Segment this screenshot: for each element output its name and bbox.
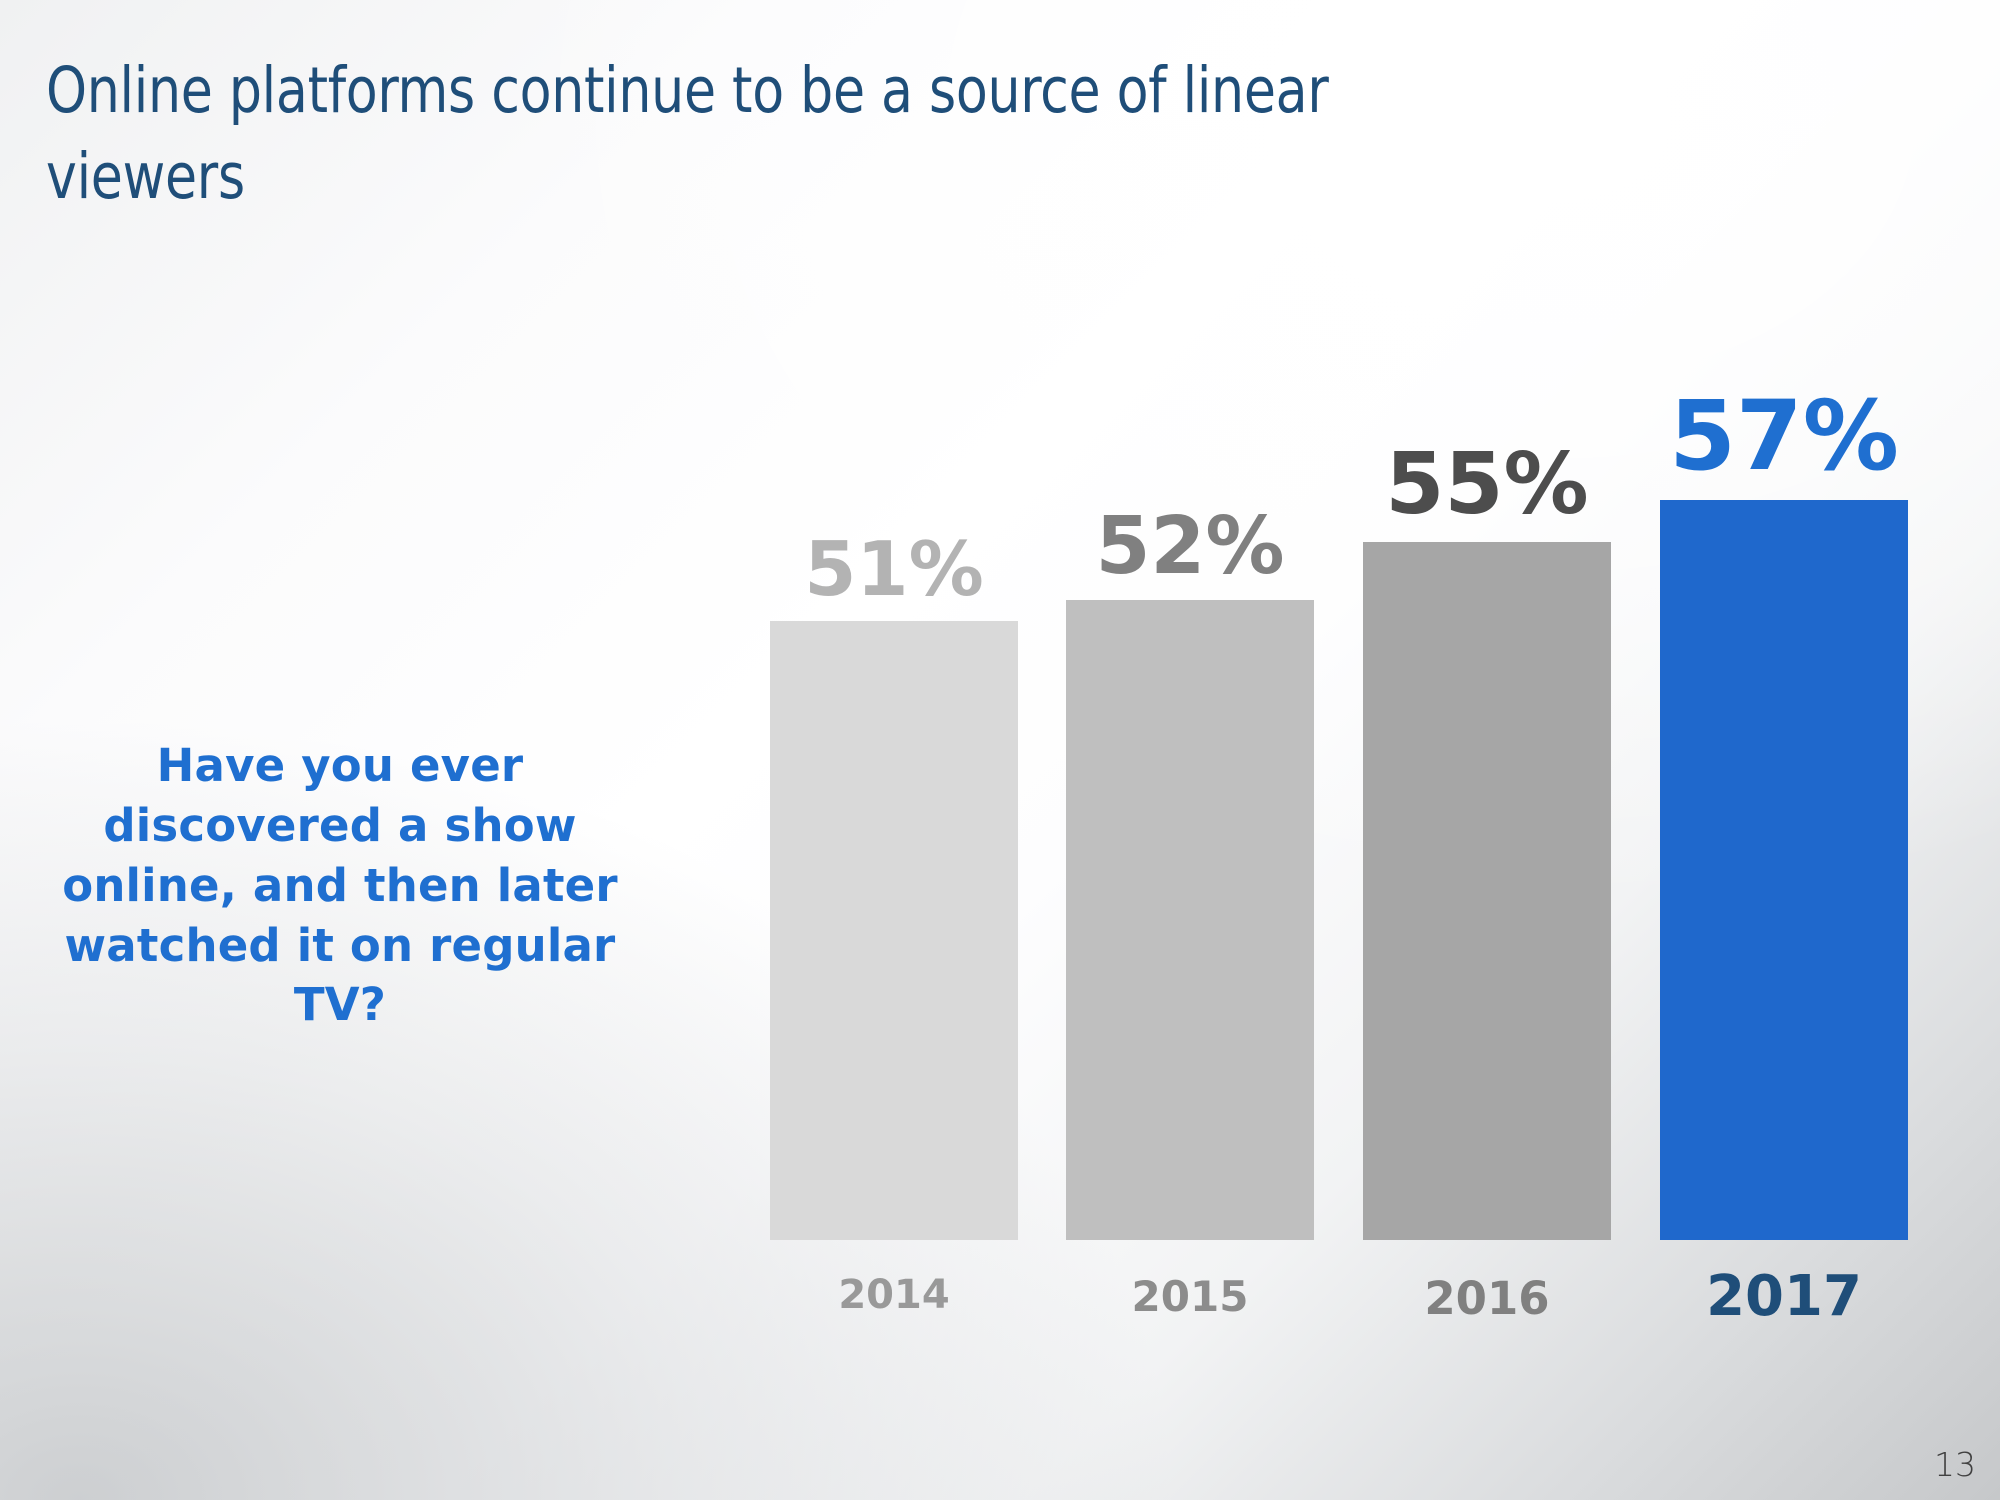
bar-value-label: 51% <box>804 525 984 613</box>
bar-rect[interactable] <box>1066 600 1314 1240</box>
bar-rect[interactable] <box>770 621 1018 1240</box>
bar-rect[interactable] <box>1363 542 1611 1240</box>
bar-value-label: 52% <box>1095 500 1284 592</box>
bar-group: 57%2017 <box>1660 500 1908 1240</box>
bar-category-label-2014: 2014 <box>838 1272 949 1318</box>
bar-category-label-2016: 2016 <box>1424 1272 1549 1325</box>
bar-value-label: 57% <box>1669 380 1899 492</box>
bar-value-label: 55% <box>1385 435 1588 534</box>
bar-group: 52%2015 <box>1066 600 1314 1240</box>
slide-canvas: Online platforms continue to be a source… <box>0 0 2000 1500</box>
page-number: 13 <box>1934 1445 1976 1484</box>
bar-group: 51%2014 <box>770 621 1018 1240</box>
bar-rect[interactable] <box>1660 500 1908 1240</box>
bar-category-label-2015: 2015 <box>1132 1272 1249 1321</box>
bar-chart: 51%201452%201555%201657%2017 <box>0 0 2000 1500</box>
bar-group: 55%2016 <box>1363 542 1611 1240</box>
bar-category-label-2017: 2017 <box>1706 1264 1862 1329</box>
